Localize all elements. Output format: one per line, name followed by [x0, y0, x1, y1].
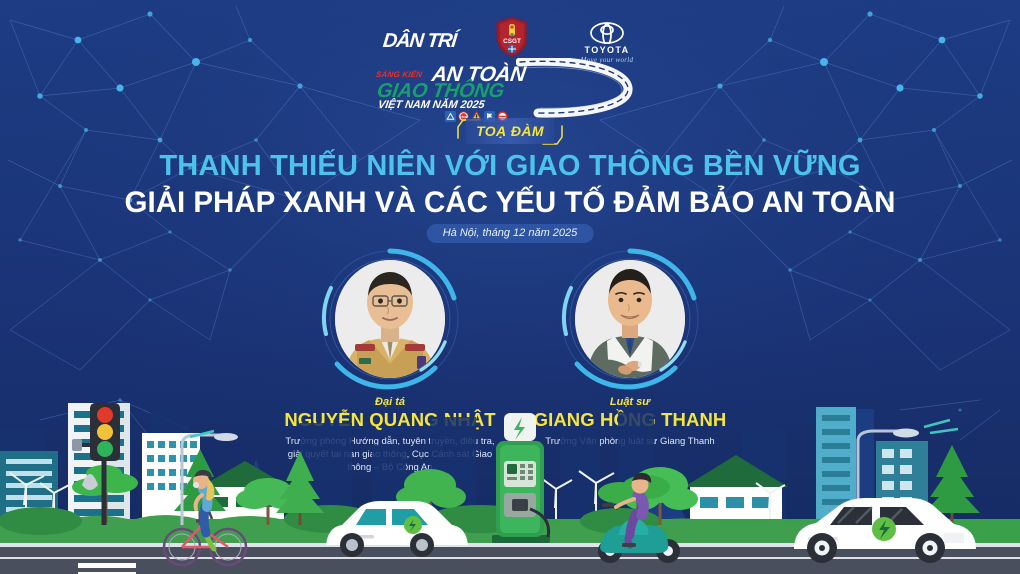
toadam-pill: TOẠ ĐÀM: [466, 118, 554, 144]
speaker-portrait-ring-2: [557, 246, 703, 392]
officer-portrait-illustration: [335, 260, 445, 378]
lawyer-portrait-illustration: [575, 260, 685, 378]
campaign-prefix: SÁNG KIẾN: [375, 70, 423, 79]
title-line-2: GIẢI PHÁP XANH VÀ CÁC YẾU TỐ ĐẢM BẢO AN …: [0, 186, 1020, 220]
poster-canvas: DÂN TRÍ CSGT TOYOTA Move your world: [0, 0, 1020, 574]
road-swoosh-graphic: [516, 58, 650, 120]
svg-text:CSGT: CSGT: [503, 38, 521, 45]
toadam-badge[interactable]: TOẠ ĐÀM: [455, 118, 565, 146]
toyota-emblem-icon: [590, 22, 624, 44]
date-pill: Hà Nội, tháng 12 năm 2025: [427, 224, 594, 243]
csgt-logo[interactable]: CSGT: [495, 16, 529, 58]
bottom-city-scene: [0, 389, 1020, 574]
ev-charging-station: [492, 413, 550, 543]
dantri-logo[interactable]: DÂN TRÍ: [382, 30, 457, 53]
speaker-photo-1: [335, 260, 445, 378]
speaker-photo-2: [575, 260, 685, 378]
header-logos: DÂN TRÍ CSGT TOYOTA Move your world: [0, 0, 1020, 62]
campaign-line3: VIỆT NAM NĂM 2025: [377, 99, 485, 111]
title-line-1: THANH THIẾU NIÊN VỚI GIAO THÔNG BỀN VỮNG: [0, 150, 1020, 183]
toyota-wordmark: TOYOTA: [572, 45, 642, 55]
campaign-logo[interactable]: SÁNG KIẾN AN TOÀN GIAO THÔNG VIỆT NAM NĂ…: [370, 60, 650, 118]
toadam-label: TOẠ ĐÀM: [476, 123, 544, 139]
speaker-portrait-ring-1: [317, 246, 463, 392]
